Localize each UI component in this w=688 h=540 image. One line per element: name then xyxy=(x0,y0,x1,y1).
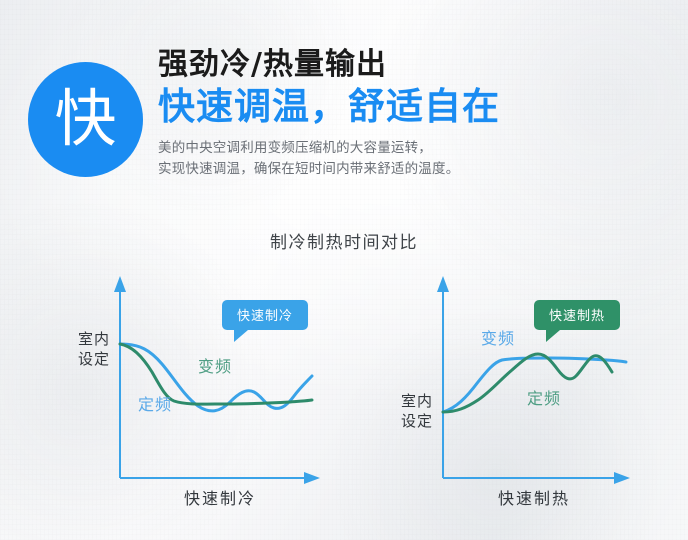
chart-heating: 室内 设定 快速制热 变频 定频 快速制热 xyxy=(344,262,688,522)
charts-container: 室内 设定 快速制冷 变频 定频 快速制冷 xyxy=(0,262,688,522)
description-block: 美的中央空调利用变频压缩机的大容量运转， 实现快速调温，确保在短时间内带来舒适的… xyxy=(158,138,678,182)
chart-cooling: 室内 设定 快速制冷 变频 定频 快速制冷 xyxy=(0,262,344,522)
description-line-1: 美的中央空调利用变频压缩机的大容量运转， xyxy=(158,138,678,160)
feature-badge-circle: 快 xyxy=(28,62,143,177)
callout-badge-cooling: 快速制冷 xyxy=(222,300,308,342)
page-subtitle: 快速调温，舒适自在 xyxy=(158,86,678,129)
promo-page: 快 强劲冷/热量输出 快速调温，舒适自在 美的中央空调利用变频压缩机的大容量运转… xyxy=(0,0,688,540)
x-axis-label-cooling: 快速制冷 xyxy=(184,489,256,508)
callout-badge-heating: 快速制热 xyxy=(534,300,620,342)
title-block: 强劲冷/热量输出 快速调温，舒适自在 美的中央空调利用变频压缩机的大容量运转， … xyxy=(158,48,678,181)
callout-badge-text-cooling: 快速制冷 xyxy=(237,309,293,324)
charts-section-title: 制冷制热时间对比 xyxy=(0,228,688,253)
series-label-fixed-cooling: 变频 xyxy=(198,357,232,376)
callout-badge-text-heating: 快速制热 xyxy=(549,309,605,324)
page-title: 强劲冷/热量输出 xyxy=(158,48,678,82)
header-section: 快 强劲冷/热量输出 快速调温，舒适自在 美的中央空调利用变频压缩机的大容量运转… xyxy=(0,0,688,200)
y-axis-label-line1-heating: 室内 xyxy=(401,392,433,410)
y-axis-label-line2-heating: 设定 xyxy=(401,412,433,430)
y-axis-label-line2-cooling: 设定 xyxy=(78,350,110,368)
badge-glyph: 快 xyxy=(54,88,116,150)
series-label-inverter-cooling: 定频 xyxy=(138,395,172,414)
series-label-inverter-heating: 变频 xyxy=(481,329,515,348)
series-label-fixed-heating: 定频 xyxy=(527,389,561,408)
y-axis-label-line1-cooling: 室内 xyxy=(78,330,110,348)
x-axis-label-heating: 快速制热 xyxy=(498,489,570,508)
description-line-2: 实现快速调温，确保在短时间内带来舒适的温度。 xyxy=(158,159,678,181)
